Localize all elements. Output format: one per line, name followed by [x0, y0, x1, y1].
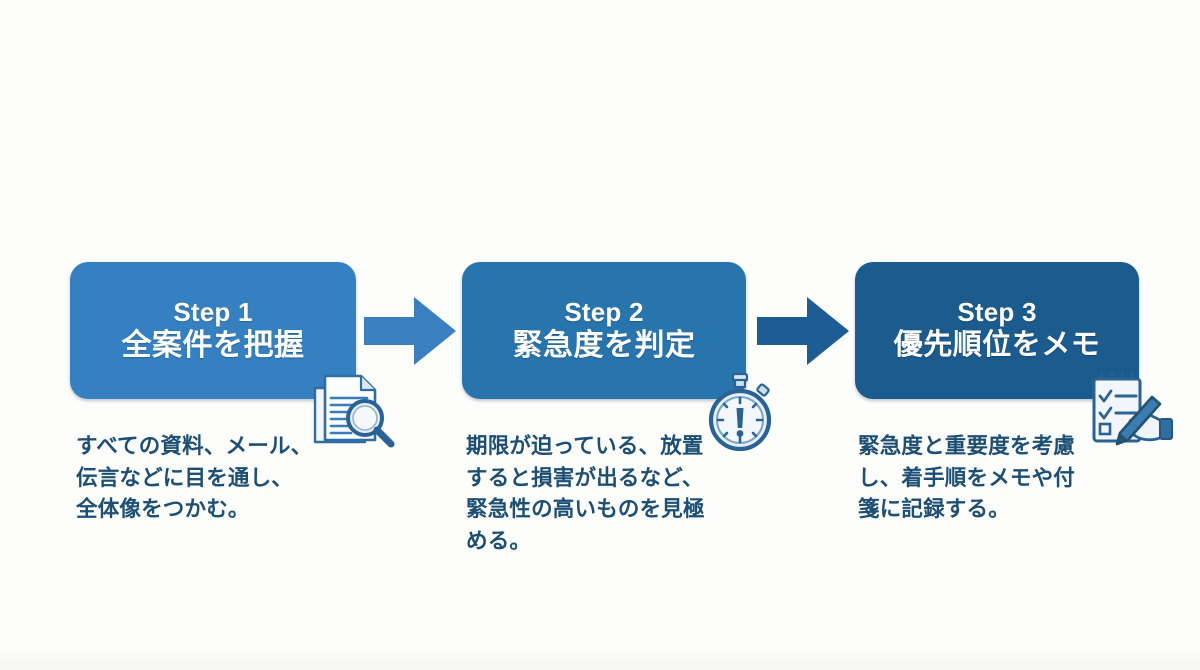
- step-2-title: 緊急度を判定: [513, 329, 696, 364]
- step-3-title: 優先順位をメモ: [894, 329, 1101, 362]
- step-1-label: Step 1: [173, 298, 252, 327]
- step-1-title: 全案件を把握: [122, 329, 305, 364]
- step-2-description: 期限が迫っている、放置 すると損害が出るなど、 緊急性の高いものを見極 める。: [466, 431, 756, 557]
- step-2-label: Step 2: [564, 298, 643, 327]
- diagram-canvas: Step 1 全案件を把握 すべての資料、メール、 伝言などに目を通し: [0, 0, 1200, 670]
- step-3-description: 緊急度と重要度を考慮 し、着手順をメモや付 箋に記録する。: [858, 431, 1148, 526]
- bottom-edge-band: [0, 644, 1200, 670]
- arrow-step2-to-step3: [757, 297, 849, 365]
- step-1-description: すべての資料、メール、 伝言などに目を通し、 全体像をつかむ。: [76, 431, 376, 526]
- arrow-step1-to-step2: [364, 297, 456, 365]
- step-3-label: Step 3: [957, 298, 1036, 327]
